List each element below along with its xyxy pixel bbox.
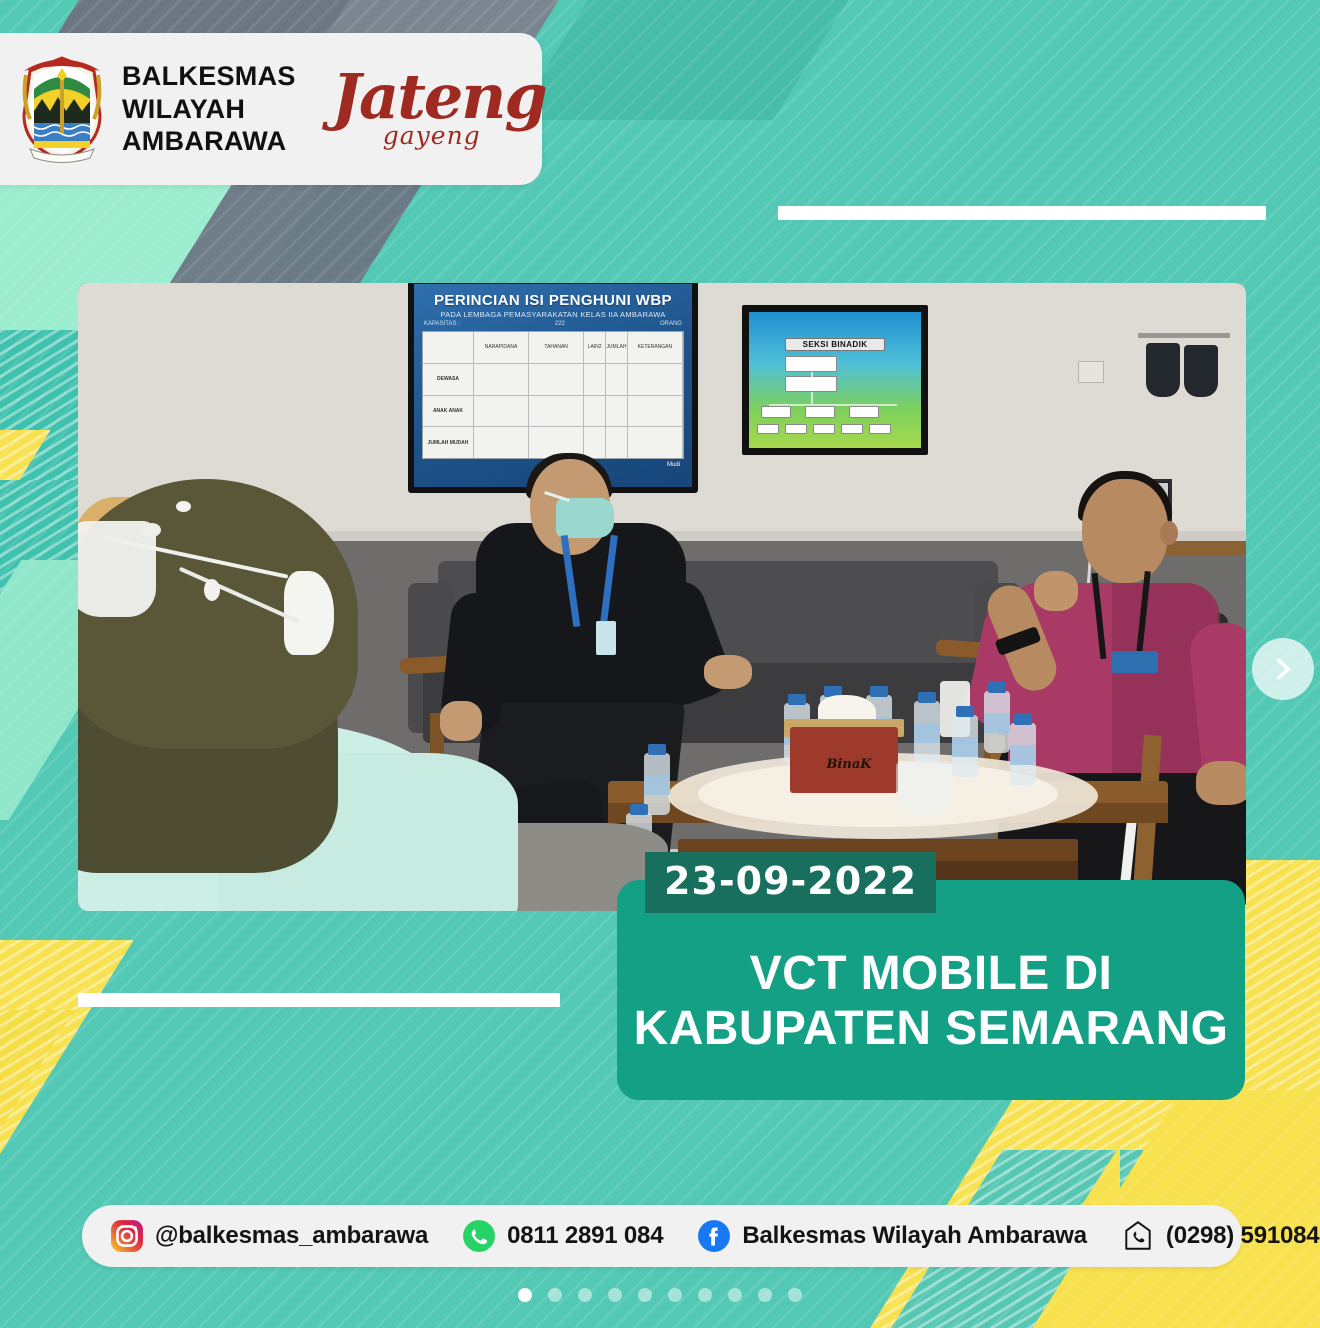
board-capacity-label: KAPASITAS :: [424, 321, 460, 327]
table-row-dewasa-label: DEWASA: [423, 364, 474, 395]
table-header-tahanan: TAHANAN: [529, 332, 584, 363]
org-connector: [811, 392, 813, 404]
event-date-badge: 23-09-2022: [645, 852, 936, 913]
table-header-lain: LAIN2: [584, 332, 606, 363]
photo-water-bottle: [984, 691, 1010, 753]
board-title: PERINCIAN ISI PENGHUNI WBP: [414, 292, 692, 309]
photo-person-right-head: [1082, 479, 1168, 583]
org-node: [785, 376, 837, 392]
org-name: BALKESMAS WILAYAH AMBARAWA: [122, 60, 296, 159]
board-capacity-unit: ORANG: [660, 321, 682, 327]
contact-item-whatsapp[interactable]: 0811 2891 084: [462, 1219, 663, 1253]
photo-person-right-hand-right: [1196, 761, 1246, 805]
table-cell: [628, 364, 683, 395]
table-header-row: NARAPIDANA TAHANAN LAIN2 JUMLAH KETERANG…: [423, 332, 683, 364]
photo-water-bottle: [1010, 723, 1036, 785]
table-cell: [606, 427, 628, 458]
photo-hijab-highlight-3: [204, 579, 220, 601]
contact-label-instagram: @balkesmas_ambarawa: [155, 1222, 428, 1250]
photo-person-right-hand-left: [1034, 571, 1078, 611]
org-node: [785, 356, 837, 372]
carousel-dot[interactable]: [578, 1288, 592, 1302]
board-table: NARAPIDANA TAHANAN LAIN2 JUMLAH KETERANG…: [422, 331, 684, 459]
org-node: [757, 424, 779, 434]
post-title-line-2: KABUPATEN SEMARANG: [634, 1002, 1229, 1057]
photo-hijab-highlight-1: [176, 501, 191, 512]
photo-person-right-ear: [1160, 521, 1178, 545]
table-header-jumlah: JUMLAH: [606, 332, 628, 363]
carousel-dot[interactable]: [698, 1288, 712, 1302]
table-row: ANAK ANAK: [423, 396, 683, 428]
next-slide-button[interactable]: [1252, 638, 1314, 700]
board-capacity-meta: KAPASITAS : 222 ORANG: [414, 319, 692, 327]
contact-bar: @balkesmas_ambarawa 0811 2891 084 Balkes…: [82, 1205, 1242, 1267]
header-logo-card: BALKESMAS WILAYAH AMBARAWA Jateng gayeng: [0, 33, 542, 185]
carousel-dot[interactable]: [788, 1288, 802, 1302]
org-node: [761, 406, 791, 418]
facebook-icon: [697, 1219, 731, 1253]
photo-person-center-badge: [596, 621, 616, 655]
table-cell: [474, 396, 529, 427]
org-connector: [811, 372, 813, 378]
table-cell: [584, 427, 606, 458]
contact-item-facebook[interactable]: Balkesmas Wilayah Ambarawa: [697, 1219, 1087, 1253]
instagram-icon: [110, 1219, 144, 1253]
carousel-dot[interactable]: [608, 1288, 622, 1302]
photo-person-center-hand-right: [704, 655, 752, 689]
table-row: DEWASA: [423, 364, 683, 396]
whatsapp-icon: [462, 1219, 496, 1253]
photo-water-bottle: [952, 715, 978, 777]
carousel-dot[interactable]: [728, 1288, 742, 1302]
board-subtitle: PADA LEMBAGA PEMASYARAKATAN KELAS IIA AM…: [414, 310, 692, 319]
contact-label-facebook: Balkesmas Wilayah Ambarawa: [742, 1222, 1087, 1250]
phone-icon: [1121, 1219, 1155, 1253]
photo-person-left-face-mask: [78, 521, 156, 617]
photo-glass-tray: [896, 761, 952, 815]
table-row-anak-label: ANAK ANAK: [423, 396, 474, 427]
contact-label-whatsapp: 0811 2891 084: [507, 1222, 663, 1250]
org-node: [869, 424, 891, 434]
table-cell: [606, 364, 628, 395]
org-node: [785, 424, 807, 434]
photo-tissue-box-brand: BinaK: [804, 757, 894, 772]
photo-water-bottle: [914, 701, 940, 763]
jateng-provincial-crest-icon: [16, 55, 108, 163]
photo-person-center-face-mask: [556, 498, 614, 538]
carousel-dot[interactable]: [668, 1288, 682, 1302]
table-cell: [584, 364, 606, 395]
table-cell: [606, 396, 628, 427]
photo-org-chart-board: SEKSI BINADIK: [742, 305, 928, 455]
org-node: [849, 406, 879, 418]
carousel-dot[interactable]: [548, 1288, 562, 1302]
org-node: [841, 424, 863, 434]
post-title-line-1: VCT MOBILE DI: [750, 947, 1113, 1002]
photo-wall-hook-1: [1146, 343, 1180, 397]
photo-person-center-hand-left: [440, 701, 482, 741]
carousel-dot[interactable]: [518, 1288, 532, 1302]
table-cell: [628, 427, 683, 458]
table-row-total-label: JUMLAH MUDAH: [423, 427, 474, 458]
contact-label-phone: (0298) 591084: [1166, 1222, 1320, 1250]
table-cell: [584, 396, 606, 427]
post-photo[interactable]: PERINCIAN ISI PENGHUNI WBP PADA LEMBAGA …: [78, 283, 1246, 911]
table-cell: [474, 364, 529, 395]
org-chart-title: SEKSI BINADIK: [785, 338, 885, 351]
table-cell: [474, 427, 529, 458]
contact-item-instagram[interactable]: @balkesmas_ambarawa: [110, 1219, 428, 1253]
table-header-keterangan: KETERANGAN: [628, 332, 683, 363]
carousel-dot[interactable]: [638, 1288, 652, 1302]
decor-white-bar-top: [778, 206, 1266, 220]
table-cell: [628, 396, 683, 427]
decor-white-bar-bottom: [78, 993, 560, 1007]
photo-wall-shelf: [1138, 333, 1230, 338]
carousel-dots: [0, 1288, 1320, 1302]
table-header-narapidana: NARAPIDANA: [474, 332, 529, 363]
photo-person-right-id-card: [1112, 651, 1158, 673]
contact-item-phone[interactable]: (0298) 591084: [1121, 1219, 1320, 1253]
board-capacity-value: 222: [555, 321, 565, 327]
photo-wall-hook-2: [1184, 345, 1218, 397]
table-header-blank: [423, 332, 474, 363]
chevron-right-icon: [1270, 656, 1296, 682]
photo-person-left-face-mask-side: [284, 571, 334, 655]
table-cell: [529, 364, 584, 395]
org-node: [813, 424, 835, 434]
post-title-card: VCT MOBILE DI KABUPATEN SEMARANG: [617, 880, 1245, 1100]
carousel-dot[interactable]: [758, 1288, 772, 1302]
instagram-post-canvas: BALKESMAS WILAYAH AMBARAWA Jateng gayeng…: [0, 0, 1320, 1328]
jateng-wordmark: Jateng: [332, 68, 532, 125]
table-cell: [529, 396, 584, 427]
org-node: [805, 406, 835, 418]
table-row: JUMLAH MUDAH: [423, 427, 683, 458]
photo-hijab-highlight-2: [142, 523, 161, 537]
photo-wall-outlet: [1078, 361, 1104, 383]
jateng-gayeng-logo: Jateng gayeng: [332, 68, 532, 150]
